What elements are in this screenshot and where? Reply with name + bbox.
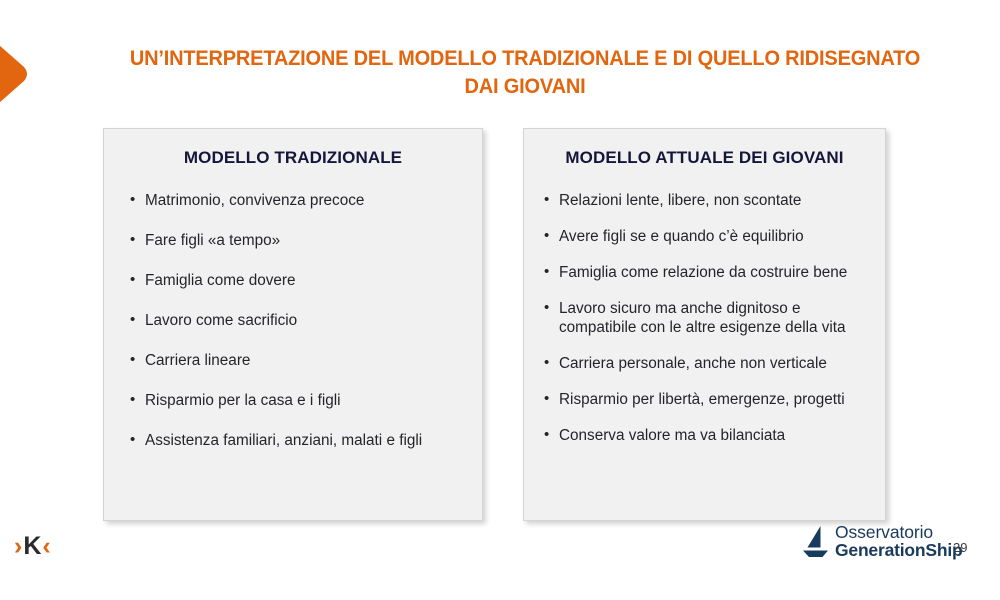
- panel-heading-traditional: MODELLO TRADIZIONALE: [104, 148, 482, 168]
- list-item: Avere figli se e quando c’è equilibrio: [544, 227, 875, 246]
- brand-logo: Osservatorio GenerationShip: [801, 524, 963, 560]
- chevron-right-icon: ›: [14, 532, 23, 560]
- list-item: Famiglia come dovere: [130, 271, 468, 290]
- page-title-line-1: UN’INTERPRETAZIONE DEL MODELLO TRADIZION…: [120, 44, 929, 72]
- list-item: Matrimonio, convivenza precoce: [130, 191, 468, 210]
- panel-modello-tradizionale: MODELLO TRADIZIONALE Matrimonio, convive…: [103, 128, 483, 521]
- list-item: Carriera personale, anche non verticale: [544, 354, 875, 373]
- sailboat-icon: [801, 525, 831, 558]
- page-title: UN’INTERPRETAZIONE DEL MODELLO TRADIZION…: [120, 44, 929, 100]
- list-item: Fare figli «a tempo»: [130, 231, 468, 250]
- footer-brand-mark: ›K‹: [14, 534, 52, 559]
- brand-line-2: GenerationShip: [835, 542, 963, 560]
- list-item: Assistenza familiari, anziani, malati e …: [130, 431, 468, 450]
- panel-heading-current: MODELLO ATTUALE DEI GIOVANI: [524, 148, 885, 168]
- decorative-chevron-icon: [0, 23, 46, 125]
- footer-mark-letter: K: [23, 532, 42, 560]
- list-item: Lavoro come sacrificio: [130, 311, 468, 330]
- list-item: Risparmio per la casa e i figli: [130, 391, 468, 410]
- list-item: Famiglia come relazione da costruire ben…: [544, 263, 875, 282]
- list-item: Risparmio per libertà, emergenze, proget…: [544, 390, 875, 409]
- bullet-list-current: Relazioni lente, libere, non scontate Av…: [524, 191, 885, 445]
- page-title-line-2: DAI GIOVANI: [120, 72, 929, 100]
- chevron-left-icon: ‹: [42, 532, 51, 560]
- list-item: Conserva valore ma va bilanciata: [544, 426, 875, 445]
- list-item: Lavoro sicuro ma anche dignitoso e compa…: [544, 299, 875, 337]
- list-item: Relazioni lente, libere, non scontate: [544, 191, 875, 210]
- bullet-list-traditional: Matrimonio, convivenza precoce Fare figl…: [104, 191, 482, 450]
- brand-text: Osservatorio GenerationShip: [835, 524, 963, 560]
- page-number: 29: [953, 540, 967, 555]
- list-item: Carriera lineare: [130, 351, 468, 370]
- panel-modello-attuale-dei-giovani: MODELLO ATTUALE DEI GIOVANI Relazioni le…: [523, 128, 886, 521]
